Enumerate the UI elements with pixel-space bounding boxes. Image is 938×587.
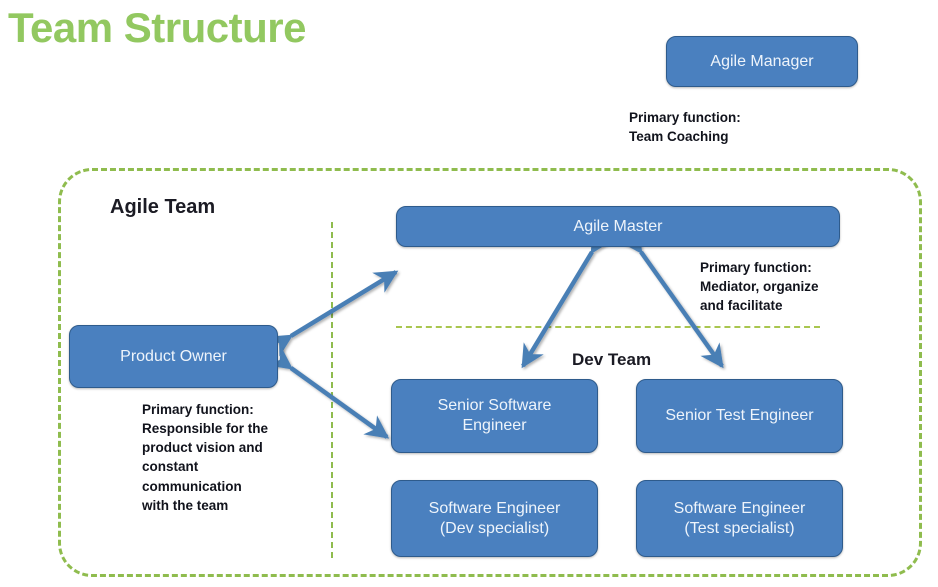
node-senior-test-engineer[interactable]: Senior Test Engineer: [636, 379, 843, 453]
node-software-engineer-test-specialist-label: Software Engineer (Test specialist): [674, 499, 806, 539]
annotation-agile-manager: Primary function: Team Coaching: [629, 108, 779, 146]
annotation-product-owner: Primary function: Responsible for the pr…: [142, 400, 297, 515]
node-software-engineer-test-specialist[interactable]: Software Engineer (Test specialist): [636, 480, 843, 557]
node-software-engineer-dev-specialist[interactable]: Software Engineer (Dev specialist): [391, 480, 598, 557]
dev-team-label: Dev Team: [572, 350, 651, 370]
node-software-engineer-dev-specialist-label: Software Engineer (Dev specialist): [429, 499, 561, 539]
annotation-agile-master: Primary function: Mediator, organize and…: [700, 258, 865, 315]
node-senior-software-engineer[interactable]: Senior Software Engineer: [391, 379, 598, 453]
page-title: Team Structure: [8, 4, 306, 52]
node-senior-test-engineer-label: Senior Test Engineer: [665, 406, 813, 426]
node-product-owner-label: Product Owner: [120, 347, 227, 367]
node-agile-manager-label: Agile Manager: [710, 52, 813, 72]
node-agile-master-label: Agile Master: [574, 217, 663, 237]
node-senior-software-engineer-label: Senior Software Engineer: [438, 396, 552, 436]
node-agile-master[interactable]: Agile Master: [396, 206, 840, 247]
node-product-owner[interactable]: Product Owner: [69, 325, 278, 388]
diagram-canvas: Team Structure Agile Team: [0, 0, 938, 587]
vertical-dashed-divider: [331, 222, 333, 558]
agile-team-label: Agile Team: [110, 196, 215, 219]
node-agile-manager[interactable]: Agile Manager: [666, 36, 858, 87]
horizontal-dashed-divider: [396, 326, 820, 328]
